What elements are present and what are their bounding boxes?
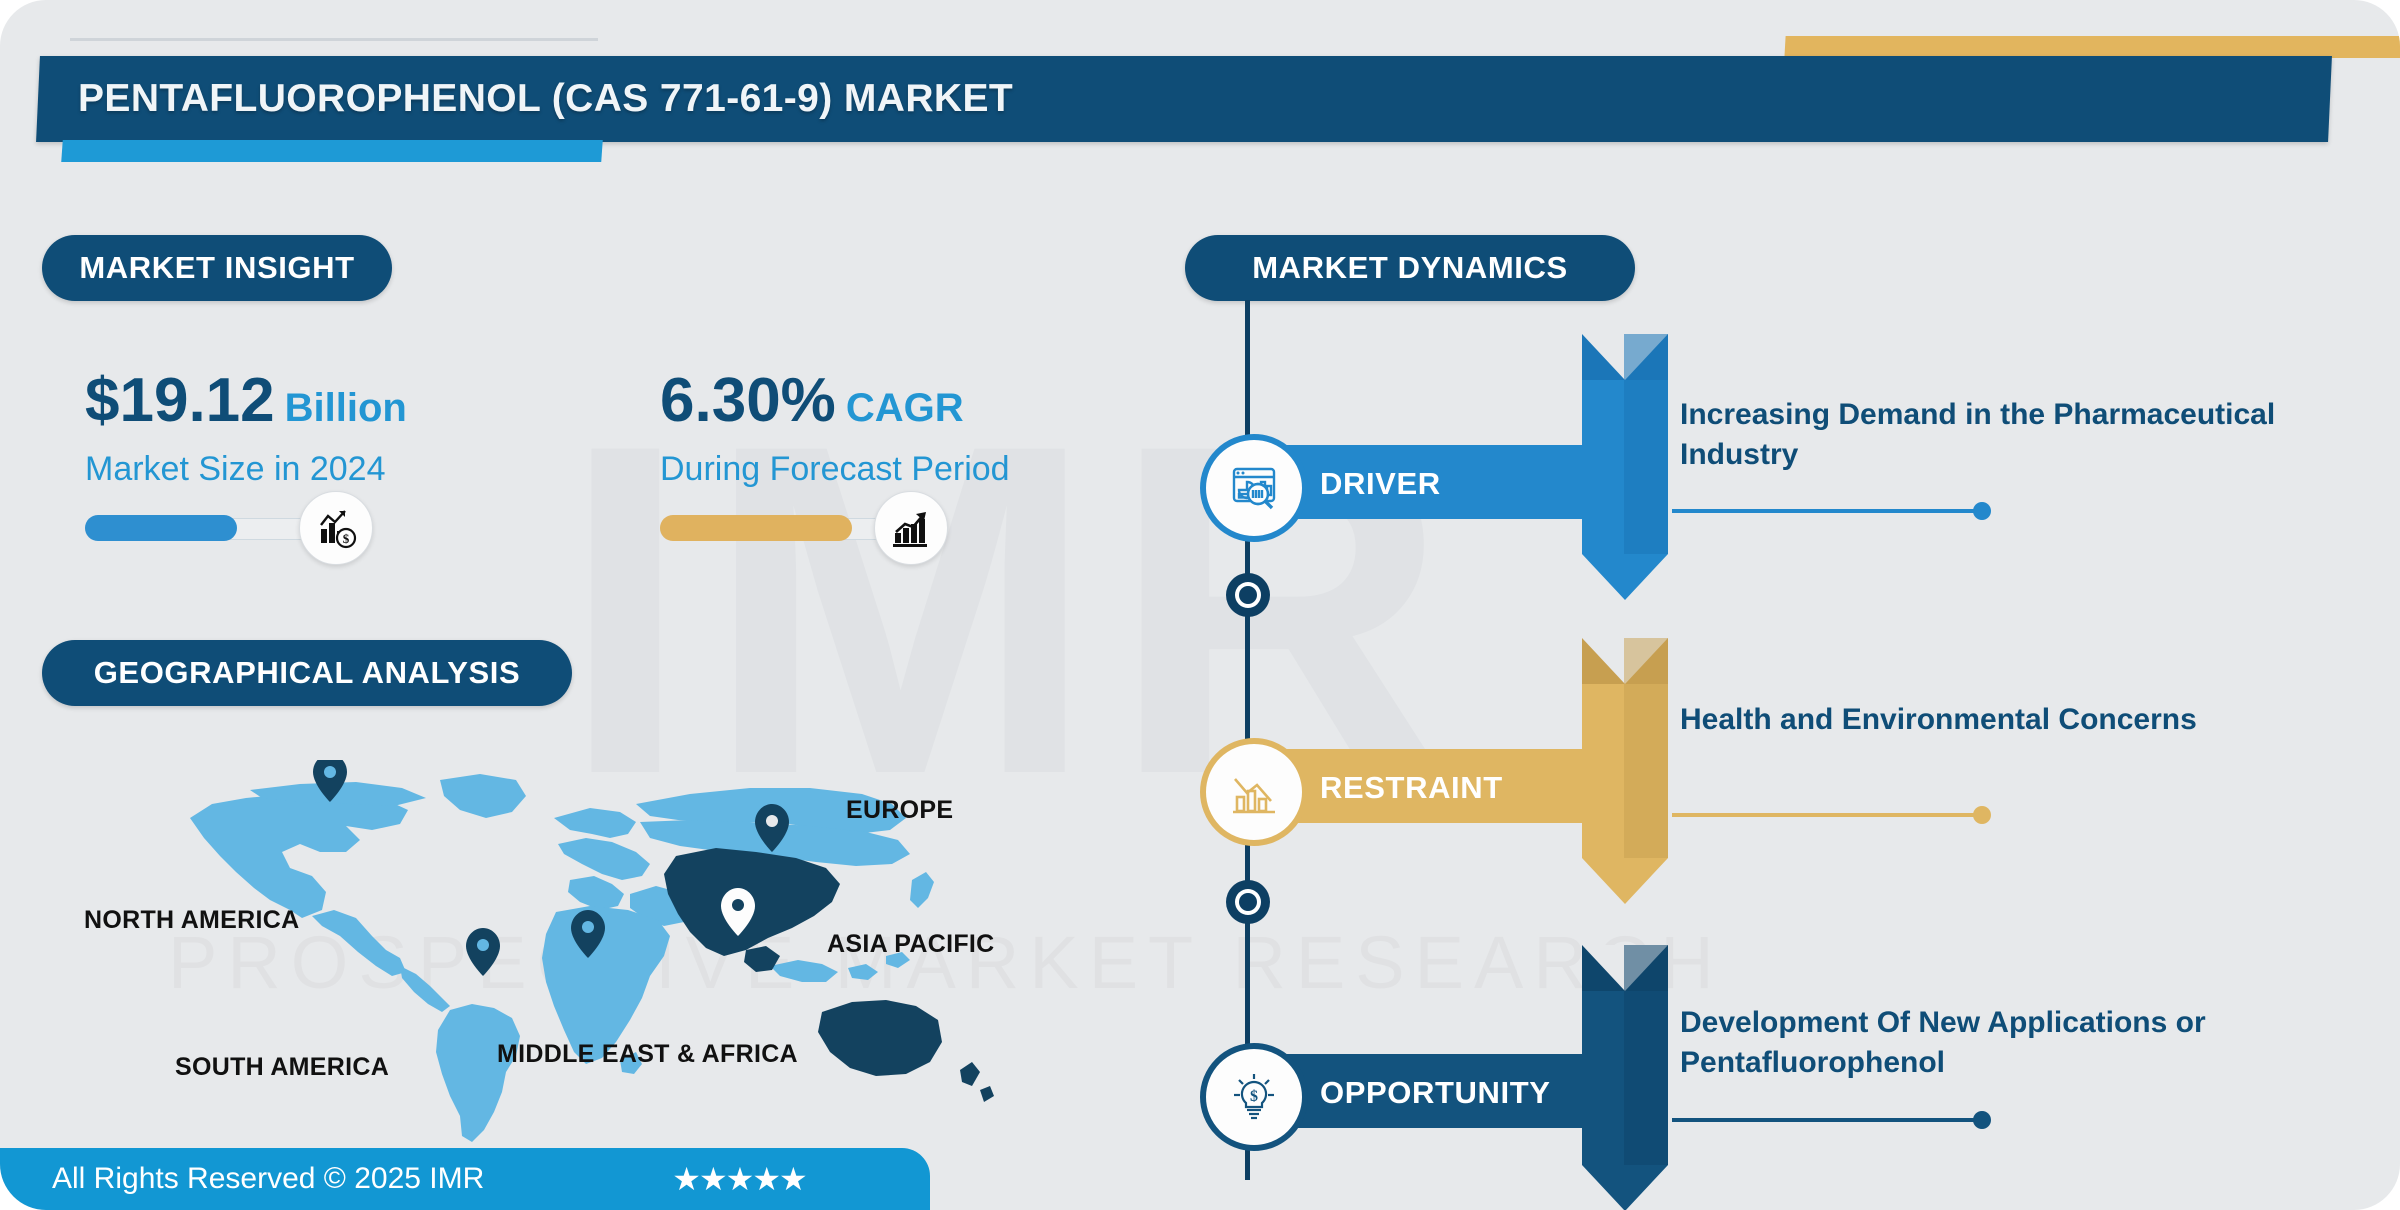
driver-chevron-bottom-point bbox=[1582, 554, 1668, 600]
opportunity-underline bbox=[1672, 1118, 1982, 1122]
map-label-asia-pacific: ASIA PACIFIC bbox=[827, 930, 995, 959]
bar-chart-dollar-icon: $ bbox=[299, 491, 373, 565]
market-insight-pill: MARKET INSIGHT bbox=[42, 235, 392, 301]
lightbulb-dollar-icon: $ bbox=[1200, 1043, 1308, 1151]
driver-underline bbox=[1672, 509, 1982, 513]
driver-description: Increasing Demand in the Pharmaceutical … bbox=[1680, 395, 2320, 475]
kpi-cagr-value: 6.30% bbox=[660, 366, 836, 435]
timeline-node-2 bbox=[1226, 880, 1270, 924]
restraint-chevron-shade bbox=[1624, 638, 1668, 858]
declining-chart-icon bbox=[1200, 738, 1308, 846]
restraint-description: Health and Environmental Concerns bbox=[1680, 700, 2320, 740]
kpi-cagr-unit: CAGR bbox=[846, 386, 964, 430]
footer-bar: All Rights Reserved © 2025 IMR ★★★★★ bbox=[0, 1148, 930, 1210]
kpi-market-size-value-row: $19.12Billion bbox=[85, 370, 407, 432]
timeline-node-1 bbox=[1226, 573, 1270, 617]
opportunity-chevron-bottom-point bbox=[1582, 1165, 1668, 1210]
header-accent-strip bbox=[61, 140, 603, 162]
footer-copyright: All Rights Reserved © 2025 IMR bbox=[52, 1162, 484, 1196]
geographical-analysis-pill: GEOGRAPHICAL ANALYSIS bbox=[42, 640, 572, 706]
map-label-south-america: SOUTH AMERICA bbox=[175, 1053, 389, 1082]
opportunity-chevron-shade bbox=[1624, 945, 1668, 1165]
header-top-rule bbox=[70, 38, 598, 41]
kpi-cagr: 6.30%CAGR During Forecast Period bbox=[660, 370, 1010, 541]
kpi-cagr-value-row: 6.30%CAGR bbox=[660, 370, 1010, 432]
footer-rating-stars: ★★★★★ bbox=[672, 1160, 805, 1198]
restraint-underline bbox=[1672, 813, 1982, 817]
growth-chart-arrow-icon bbox=[874, 491, 948, 565]
opportunity-tag-label: OPPORTUNITY bbox=[1320, 1075, 1551, 1111]
progress-fill bbox=[85, 515, 237, 541]
restraint-tag-label: RESTRAINT bbox=[1320, 770, 1503, 806]
kpi-market-size-subtitle: Market Size in 2024 bbox=[85, 450, 407, 489]
map-label-middle-east-africa: MIDDLE EAST & AFRICA bbox=[497, 1040, 798, 1069]
analytics-search-icon bbox=[1200, 434, 1308, 542]
kpi-market-size: $19.12Billion Market Size in 2024 $ bbox=[85, 370, 407, 541]
kpi-market-size-progress: $ bbox=[85, 515, 375, 541]
driver-tag-label: DRIVER bbox=[1320, 466, 1441, 502]
opportunity-description: Development Of New Applications or Penta… bbox=[1680, 1003, 2320, 1083]
restraint-chevron-bottom-point bbox=[1582, 858, 1668, 904]
svg-text:$: $ bbox=[1250, 1088, 1258, 1105]
map-label-north-america: NORTH AMERICA bbox=[84, 906, 299, 935]
page-title: PENTAFLUOROPHENOL (CAS 771-61-9) MARKET bbox=[78, 55, 2078, 143]
kpi-market-size-value: $19.12 bbox=[85, 366, 275, 435]
driver-chevron-shade bbox=[1624, 334, 1668, 554]
market-dynamics-pill: MARKET DYNAMICS bbox=[1185, 235, 1635, 301]
kpi-market-size-unit: Billion bbox=[285, 386, 407, 430]
svg-text:$: $ bbox=[343, 531, 350, 546]
progress-fill bbox=[660, 515, 852, 541]
kpi-cagr-progress bbox=[660, 515, 950, 541]
infographic-canvas: IMR PROSPECTIVE MARKET RESEARCH PENTAFLU… bbox=[0, 0, 2400, 1210]
map-label-europe: EUROPE bbox=[846, 796, 953, 825]
kpi-cagr-subtitle: During Forecast Period bbox=[660, 450, 1010, 489]
